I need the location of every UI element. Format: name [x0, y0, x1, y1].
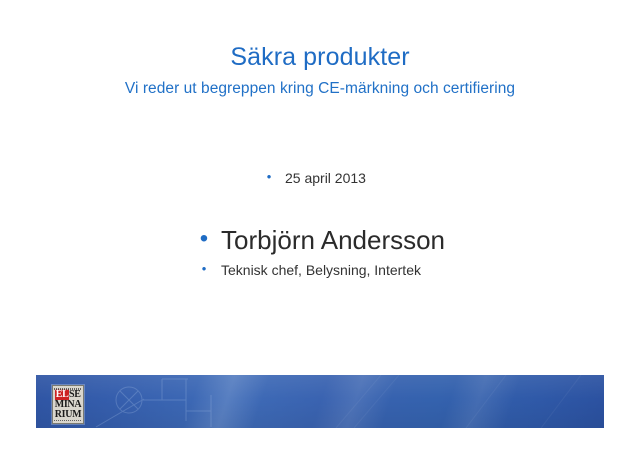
logo-line-1: ELSE: [55, 390, 80, 400]
bullet-text-role: Teknisk chef, Belysning, Intertek: [221, 260, 421, 280]
logo-line-3: RIUM: [55, 410, 82, 420]
presentation-slide: Säkra produkter Vi reder ut begreppen kr…: [0, 0, 640, 452]
bullet-item-date: • 25 april 2013: [0, 168, 640, 188]
logo-line-2: MINA: [55, 400, 82, 410]
bullet-text-date: 25 april 2013: [285, 168, 366, 188]
elseminarium-logo: ELSE MINA RIUM: [52, 385, 84, 424]
body-content: • 25 april 2013 • Torbjörn Andersson • T…: [0, 168, 640, 280]
footer-banner: ELSE MINA RIUM: [36, 375, 604, 428]
blueprint-lamp-symbol-icon: [36, 375, 604, 428]
slide-title: Säkra produkter: [0, 42, 640, 72]
logo-bottom-strip: [54, 420, 82, 422]
title-block: Säkra produkter Vi reder ut begreppen kr…: [0, 42, 640, 100]
bullet-marker-icon: •: [196, 227, 212, 251]
bullet-item-name: • Torbjörn Andersson: [0, 224, 640, 256]
bullet-marker-icon: •: [196, 262, 212, 275]
logo-line-1-rest: SE: [69, 389, 81, 400]
logo-line-1-highlight: EL: [55, 389, 69, 400]
slide-subtitle: Vi reder ut begreppen kring CE-märkning …: [0, 78, 640, 100]
banner-sheen-overlay: [36, 375, 604, 428]
logo-top-strip: [54, 388, 82, 390]
bullet-marker-icon: •: [262, 170, 276, 183]
bullet-item-role: • Teknisk chef, Belysning, Intertek: [0, 260, 640, 280]
bullet-text-name: Torbjörn Andersson: [221, 224, 445, 256]
